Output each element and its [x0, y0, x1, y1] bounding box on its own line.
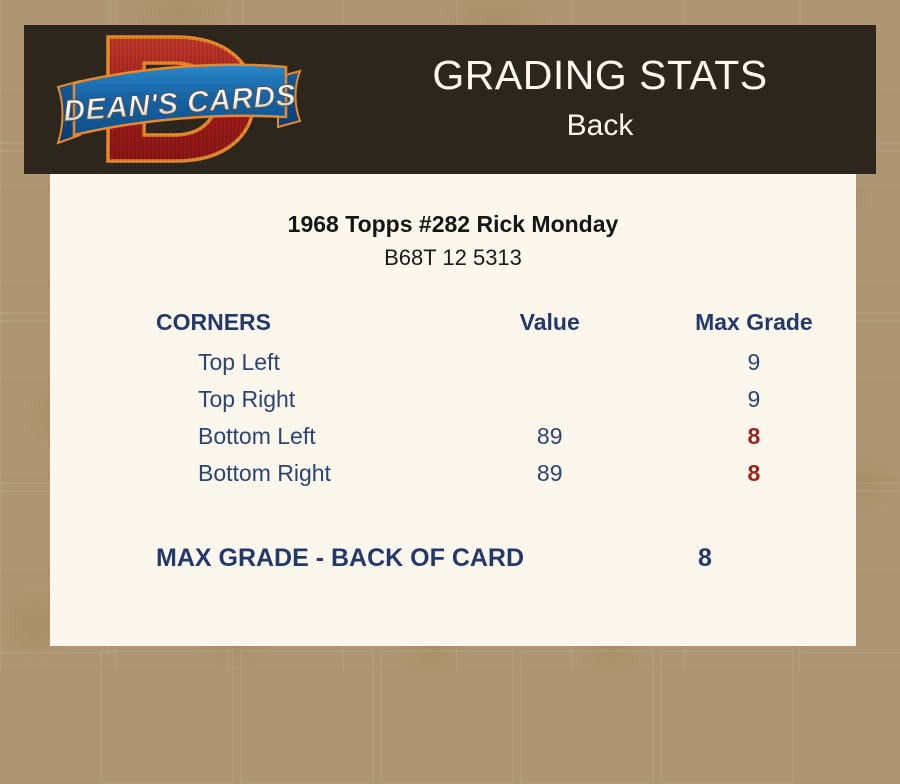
corner-max-grade: 8	[652, 455, 856, 492]
max-grade-summary-value: 8	[610, 544, 800, 573]
content-panel: 1968 Topps #282 Rick Monday B68T 12 5313…	[50, 174, 856, 646]
column-header-corners: CORNERS	[50, 309, 448, 344]
table-row: Bottom Left898	[50, 418, 856, 455]
column-header-max-grade: Max Grade	[652, 309, 856, 344]
table-row: Top Left9	[50, 344, 856, 381]
corner-label: Top Left	[50, 344, 448, 381]
corner-max-grade: 8	[652, 418, 856, 455]
page-subtitle: Back	[324, 106, 876, 146]
corner-value	[448, 381, 652, 418]
corner-label: Bottom Left	[50, 418, 448, 455]
corner-value	[448, 344, 652, 381]
corner-max-grade: 9	[652, 344, 856, 381]
table-row: Bottom Right898	[50, 455, 856, 492]
corner-label: Bottom Right	[50, 455, 448, 492]
table-row: Top Right9	[50, 381, 856, 418]
header-bar: DEAN'S CARDS GRADING STATS Back	[24, 25, 876, 174]
header-titles: GRADING STATS Back	[324, 51, 876, 146]
max-grade-summary-label: MAX GRADE - BACK OF CARD	[50, 544, 610, 573]
card-code: B68T 12 5313	[50, 243, 856, 273]
max-grade-summary-row: MAX GRADE - BACK OF CARD 8	[50, 544, 856, 573]
corner-label: Top Right	[50, 381, 448, 418]
grading-stats-table: CORNERS Value Max Grade Top Left9Top Rig…	[50, 309, 856, 492]
corner-max-grade: 9	[652, 381, 856, 418]
table-header-row: CORNERS Value Max Grade	[50, 309, 856, 344]
corner-value: 89	[448, 455, 652, 492]
deans-cards-logo[interactable]: DEAN'S CARDS	[50, 31, 308, 167]
column-header-value: Value	[448, 309, 652, 344]
card-title: 1968 Topps #282 Rick Monday	[50, 209, 856, 239]
table-body: Top Left9Top Right9Bottom Left898Bottom …	[50, 344, 856, 492]
corner-value: 89	[448, 418, 652, 455]
page-title: GRADING STATS	[324, 51, 876, 99]
